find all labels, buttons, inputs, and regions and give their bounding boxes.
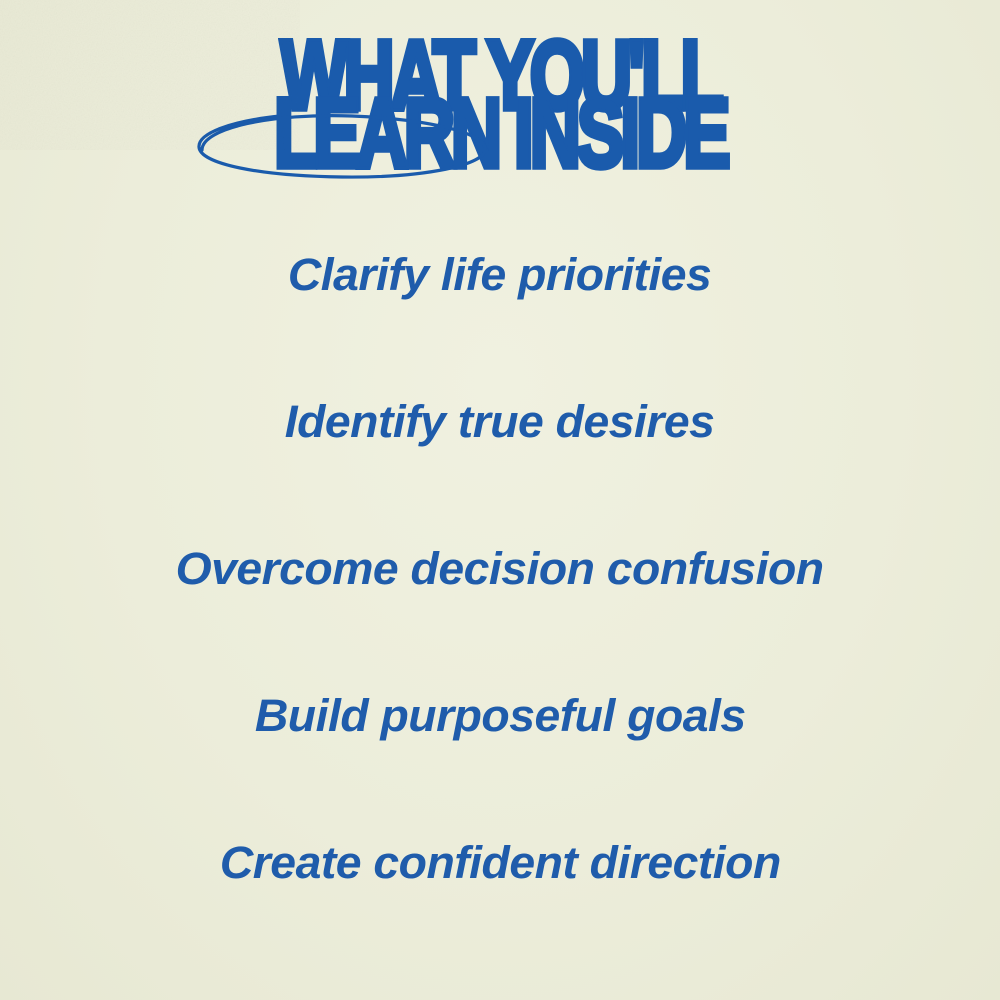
list-item: Create confident direction: [0, 838, 1000, 888]
benefits-list: Clarify life priorities Identify true de…: [0, 0, 1000, 1000]
benefit-label: Overcome decision confusion: [176, 544, 824, 594]
benefit-label: Build purposeful goals: [255, 691, 746, 741]
list-item: Overcome decision confusion: [0, 544, 1000, 594]
list-item: Identify true desires: [0, 397, 1000, 447]
benefit-label: Create confident direction: [220, 838, 781, 888]
benefit-label: Identify true desires: [285, 397, 715, 447]
list-item: Clarify life priorities: [0, 250, 1000, 300]
benefit-label: Clarify life priorities: [288, 250, 711, 300]
list-item: Build purposeful goals: [0, 691, 1000, 741]
